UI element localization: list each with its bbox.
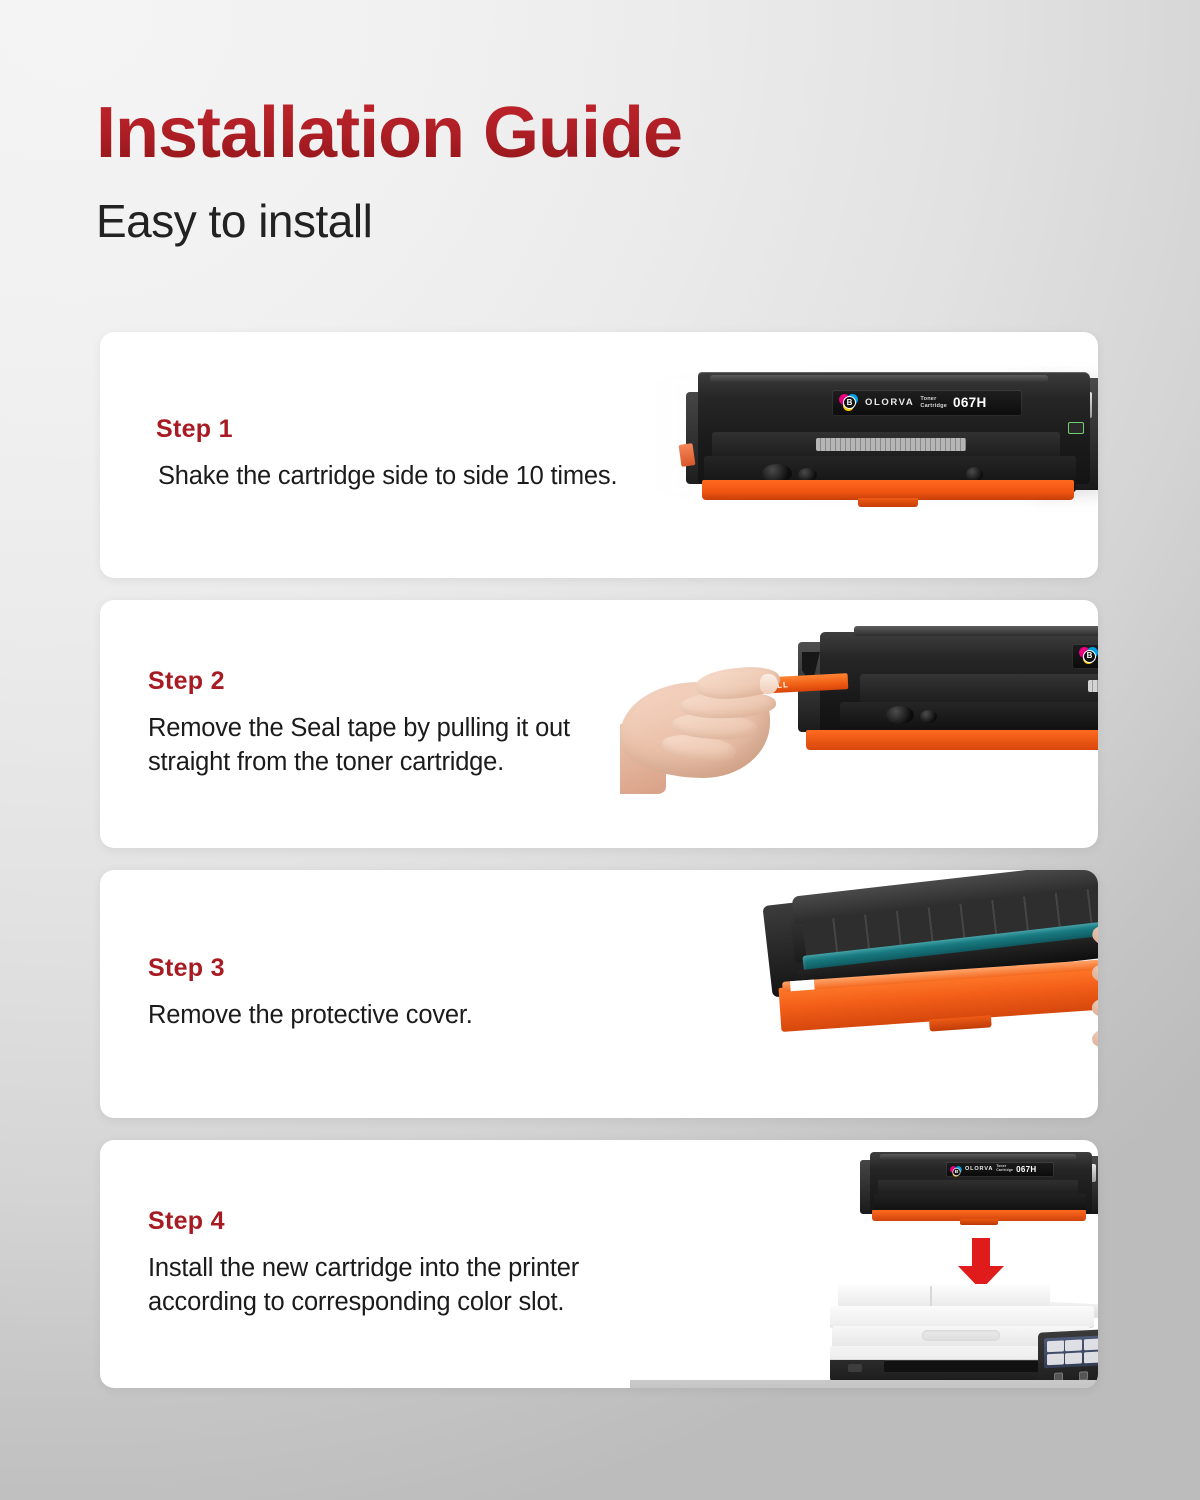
cartridge-mid-shell	[860, 674, 1098, 704]
cartridge-type: Toner Cartridge	[920, 396, 947, 409]
step-1-illustration: B OLORVA Toner Cartridge 067H	[620, 332, 1098, 578]
scanner-lid	[830, 1306, 1094, 1328]
orange-protective-cover	[702, 480, 1074, 500]
screen-app-icon	[1084, 1351, 1098, 1363]
step-2-label: Step 2	[148, 667, 660, 696]
cover-removal-image	[780, 882, 1098, 1108]
model-number: 067H	[1016, 1165, 1036, 1174]
brand-name: OLORVA	[965, 1166, 993, 1172]
brand-name: OLORVA	[865, 397, 914, 408]
control-panel	[1038, 1327, 1098, 1384]
cartridge-ribbed-band	[1088, 680, 1098, 692]
steps-list: Step 1 Shake the cartridge side to side …	[100, 332, 1098, 1388]
orange-cover-tab	[960, 1219, 998, 1225]
cartridge-top-lip	[710, 375, 1048, 383]
touchscreen[interactable]	[1044, 1334, 1098, 1368]
step-3-text: Step 3 Remove the protective cover.	[100, 954, 660, 1033]
cartridge-label: B OLORVA Toner Cartridge 067H	[946, 1162, 1054, 1177]
step-2-description: Remove the Seal tape by pulling it out s…	[148, 712, 660, 779]
step-3-illustration	[620, 870, 1098, 1118]
feeder-seam	[930, 1286, 932, 1308]
step-card-1: Step 1 Shake the cartridge side to side …	[100, 332, 1098, 578]
color-code-badge: B	[1083, 650, 1096, 663]
cartridge-lower-shell	[840, 702, 1098, 732]
cartridge-ribbed-band	[816, 438, 966, 451]
printer-install-image: B OLORVA Toner Cartridge 067H	[810, 1146, 1098, 1388]
cartridge-type: Toner Cartridge	[996, 1165, 1013, 1173]
step-3-label: Step 3	[148, 954, 660, 983]
hand-illustration	[1050, 916, 1098, 1106]
step-4-description: Install the new cartridge into the print…	[148, 1252, 660, 1319]
model-number: 067H	[953, 395, 986, 410]
toner-cartridge: B OLORVA Toner Cartridge 067H	[698, 372, 1090, 508]
page-title: Installation Guide	[96, 96, 682, 172]
fingernail	[760, 674, 778, 694]
screen-app-icon	[1065, 1339, 1082, 1351]
cover-notch	[790, 979, 815, 991]
cartridge-shake-image: B OLORVA Toner Cartridge 067H	[670, 360, 1098, 530]
arrow-stem	[972, 1238, 990, 1268]
orange-protective-cover	[806, 730, 1098, 750]
finger	[1091, 1020, 1098, 1052]
step-card-4: Step 4 Install the new cartridge into th…	[100, 1140, 1098, 1388]
cartridge-chip	[1068, 422, 1084, 434]
toner-cartridge: B OLORVA Toner Cartridge 067H	[870, 1152, 1092, 1226]
finger	[1091, 959, 1098, 990]
paper-tray-slot	[884, 1360, 1044, 1372]
finger	[1092, 992, 1098, 1020]
orange-cover-tab	[858, 498, 918, 507]
step-1-text: Step 1 Shake the cartridge side to side …	[100, 415, 660, 494]
step-3-description: Remove the protective cover.	[148, 999, 660, 1033]
floor-surface	[630, 1380, 1098, 1388]
step-4-illustration: B OLORVA Toner Cartridge 067H	[620, 1140, 1098, 1388]
guide-header: Installation Guide Easy to install	[0, 0, 1200, 248]
step-card-2: Step 2 Remove the Seal tape by pulling i…	[100, 600, 1098, 848]
step-1-description: Shake the cartridge side to side 10 time…	[148, 460, 660, 494]
screen-app-icon	[1047, 1353, 1064, 1365]
usb-port-icon	[848, 1364, 862, 1372]
cmyk-color-icon: B	[839, 394, 859, 412]
screen-app-icon	[1047, 1340, 1064, 1352]
printer	[830, 1284, 1098, 1384]
cartridge-top-lip	[880, 1154, 1076, 1161]
screen-app-icon	[1084, 1338, 1098, 1350]
cartridge-top-lip	[854, 626, 1098, 636]
step-4-label: Step 4	[148, 1207, 660, 1236]
step-2-illustration: B OLORVA Toner Cartridge 067H	[620, 600, 1098, 848]
down-arrow-icon	[958, 1238, 1004, 1290]
finger	[1090, 919, 1098, 960]
color-code-badge: B	[843, 396, 856, 409]
screen-app-icon	[1065, 1352, 1082, 1364]
step-1-label: Step 1	[148, 415, 660, 444]
page-subtitle: Easy to install	[96, 194, 1200, 248]
cartridge-knob	[886, 706, 914, 724]
toner-cartridge: B OLORVA Toner Cartridge 067H	[820, 618, 1098, 768]
step-4-text: Step 4 Install the new cartridge into th…	[100, 1207, 660, 1319]
step-2-text: Step 2 Remove the Seal tape by pulling i…	[100, 667, 660, 779]
cmyk-color-icon: B	[1079, 647, 1098, 665]
cartridge-knob	[920, 710, 937, 723]
color-code-badge: B	[952, 1167, 960, 1175]
cartridge-label: B OLORVA Toner Cartridge 067H	[1072, 644, 1098, 669]
step-card-3: Step 3 Remove the protective cover.	[100, 870, 1098, 1118]
printer-handle	[922, 1330, 1000, 1341]
cartridge-label: B OLORVA Toner Cartridge 067H	[832, 390, 1022, 416]
cmyk-color-icon: B	[950, 1166, 957, 1173]
seal-tape-tab	[679, 443, 696, 467]
